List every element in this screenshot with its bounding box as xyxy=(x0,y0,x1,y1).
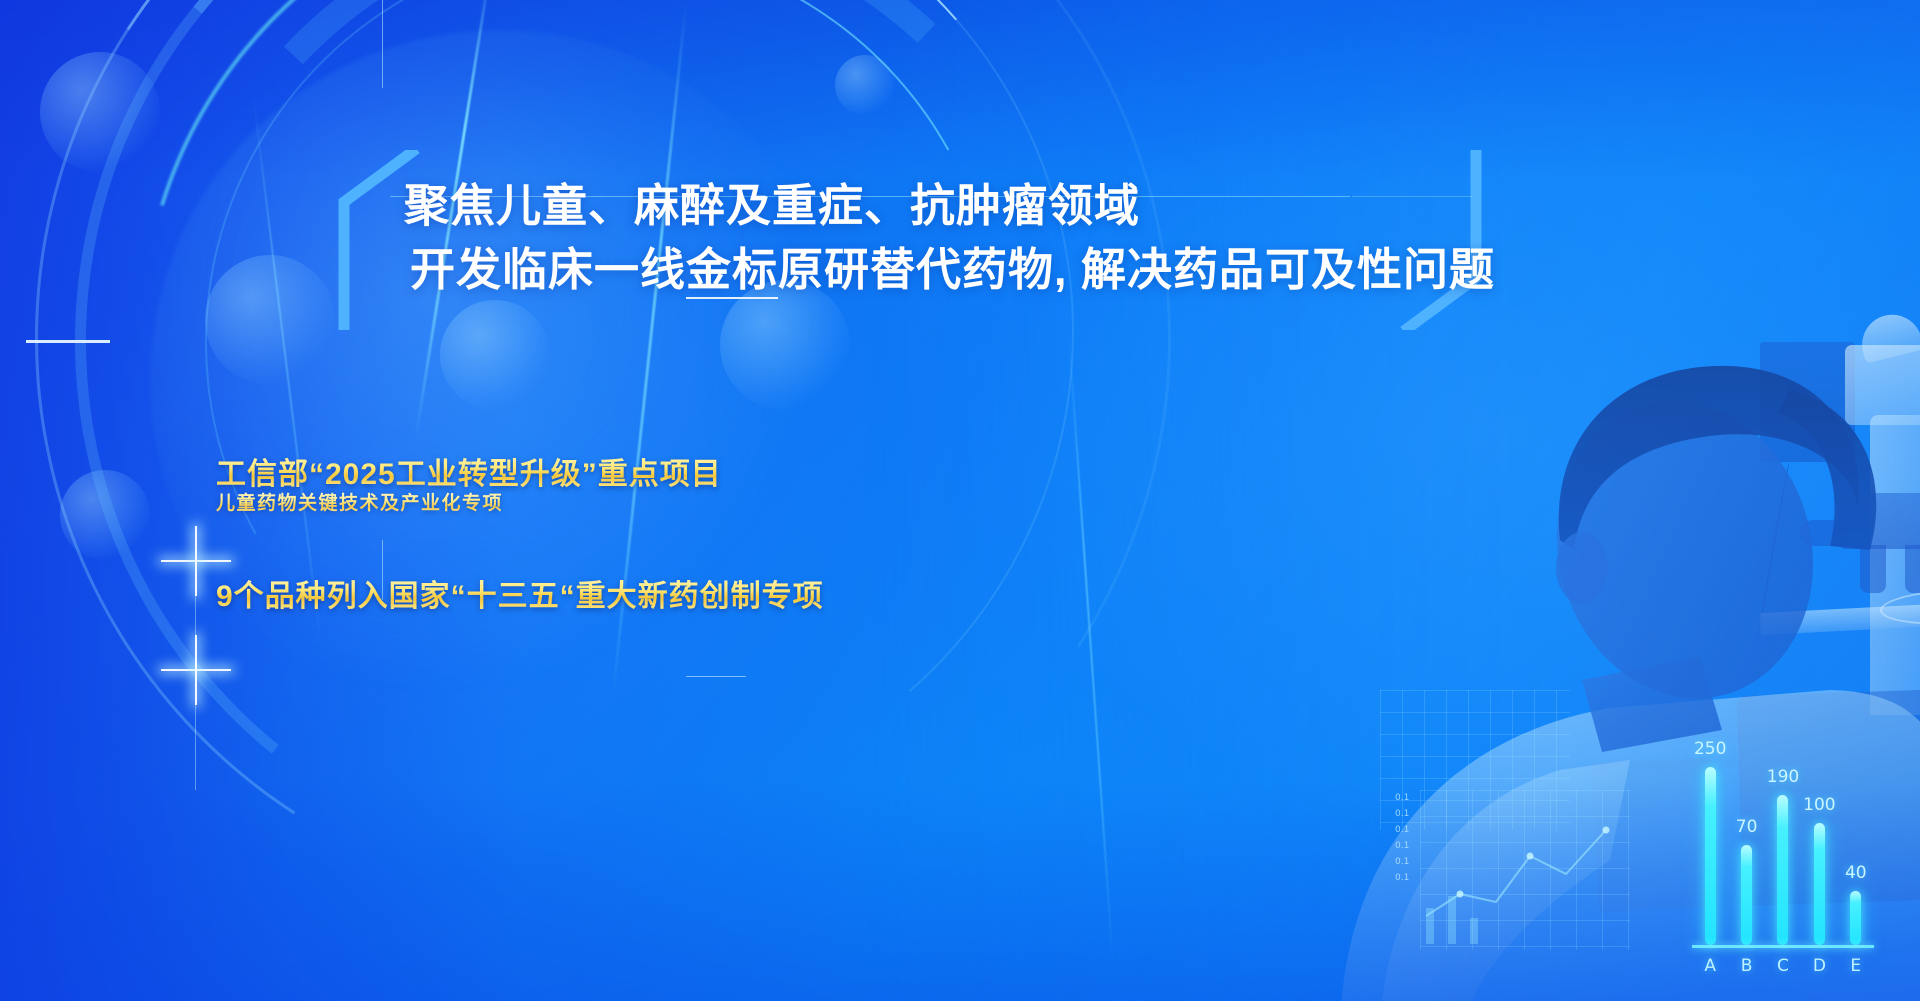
headline-line-2-part-a: 开发临床一线 xyxy=(410,244,686,295)
headline-line-2: 开发临床一线金标原研替代药物, 解决药品可及性问题 xyxy=(410,238,1364,302)
sparkle-icon xyxy=(195,669,197,671)
left-dash-rule xyxy=(26,340,110,343)
banner-canvas: 聚焦儿童、麻醉及重症、抗肿瘤领域 开发临床一线金标原研替代药物, 解决药品可及性… xyxy=(0,0,1920,1001)
background-grid-ticks: 0.10.10.10.10.10.1 xyxy=(1395,790,1409,886)
bar-b xyxy=(1741,845,1752,945)
headline-top-rule-right xyxy=(1352,196,1472,197)
bar-chart: 250 70 190 100 40 A B C xyxy=(1682,730,1882,980)
chart-axis-line xyxy=(1692,945,1874,948)
x-label-a: A xyxy=(1701,956,1719,976)
hairline xyxy=(382,0,383,88)
bar-column: 250 xyxy=(1701,745,1719,945)
headline-line-2-part-b: 原研替代药物, 解决药品可及性问题 xyxy=(778,244,1495,295)
x-label-c: C xyxy=(1774,956,1792,976)
bar-a xyxy=(1705,767,1716,945)
bar-column: 40 xyxy=(1847,745,1865,945)
bar-column: 70 xyxy=(1738,745,1756,945)
headline-line-1: 聚焦儿童、麻醉及重症、抗肿瘤领域 xyxy=(404,174,1364,238)
sparkle-icon xyxy=(195,560,197,562)
page-title: 聚焦儿童、麻醉及重症、抗肿瘤领域 开发临床一线金标原研替代药物, 解决药品可及性… xyxy=(404,174,1364,302)
bottom-vignette xyxy=(0,781,1920,1001)
bar-value-label: 190 xyxy=(1767,767,1799,787)
bar-chart-bars: 250 70 190 100 40 xyxy=(1692,745,1874,945)
x-label-d: D xyxy=(1810,956,1828,976)
hairline xyxy=(686,676,746,677)
bar-column: 100 xyxy=(1810,745,1828,945)
bar-c xyxy=(1777,795,1788,945)
chart-x-labels: A B C D E xyxy=(1692,956,1874,976)
bar-value-label: 250 xyxy=(1694,739,1726,759)
bar-value-label: 100 xyxy=(1803,795,1835,815)
callout-pediatric-subtitle: 儿童药物关键技术及产业化专项 xyxy=(216,488,503,515)
headline-line-2-underlined: 金标 xyxy=(686,244,778,299)
callout-nine-varieties: 9个品种列入国家“十三五“重大新药创制专项 xyxy=(216,571,824,615)
bar-e xyxy=(1850,891,1861,945)
x-label-b: B xyxy=(1738,956,1756,976)
bar-column: 190 xyxy=(1774,745,1792,945)
callout-ministry-project: 工信部“2025工业转型升级”重点项目 xyxy=(216,449,722,493)
bar-value-label: 70 xyxy=(1736,817,1758,837)
bar-value-label: 40 xyxy=(1845,863,1867,883)
x-label-e: E xyxy=(1847,956,1865,976)
bar-d xyxy=(1814,823,1825,945)
background-line-chart xyxy=(1420,790,1630,950)
